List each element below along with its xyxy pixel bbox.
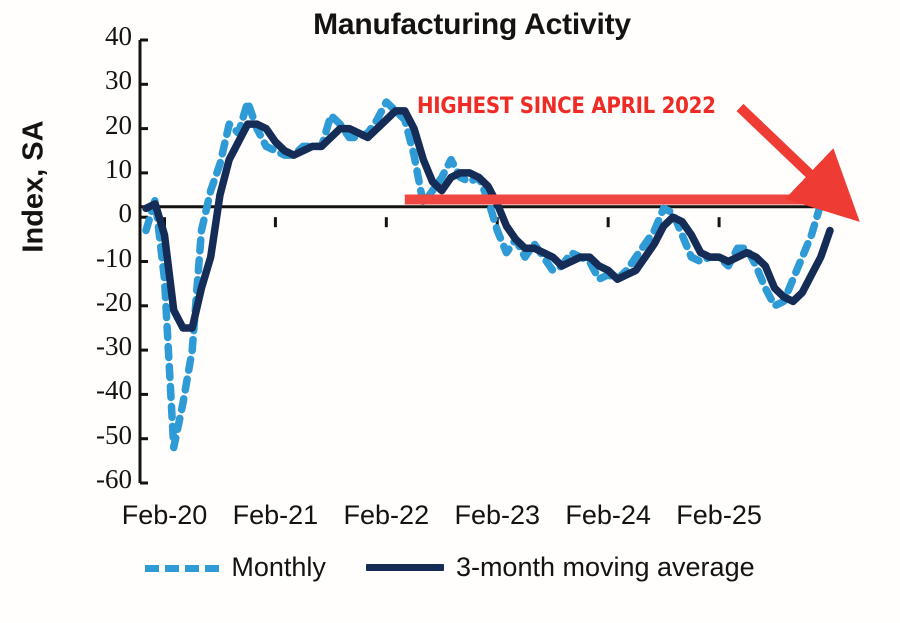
y-axis-tick-label: 10 <box>68 154 132 185</box>
y-axis-tick-label: 0 <box>68 198 132 229</box>
legend-item-monthly[interactable]: Monthly <box>145 552 326 583</box>
series-line-monthly <box>146 102 830 448</box>
y-axis-tick-label: 30 <box>68 65 132 96</box>
annotation-text: HIGHEST SINCE APRIL 2022 <box>417 94 716 119</box>
y-axis-tick-label: 20 <box>68 110 132 141</box>
x-axis-ticks <box>164 217 719 227</box>
series-line-moving-average <box>146 111 830 328</box>
legend-item-moving-average[interactable]: 3-month moving average <box>366 552 755 583</box>
y-axis-tick-label: -30 <box>68 331 132 362</box>
y-axis-tick-label: 40 <box>68 21 132 52</box>
dashed-line-icon <box>145 565 219 572</box>
annotation-arrow <box>740 107 828 191</box>
legend-label-monthly: Monthly <box>231 552 326 583</box>
y-axis-tick-label: -60 <box>68 464 132 495</box>
chart-page: Manufacturing Activity Index, SA 4030201… <box>0 0 900 623</box>
solid-line-icon <box>366 564 444 571</box>
legend-label-moving-average: 3-month moving average <box>456 552 755 583</box>
chart-legend: Monthly 3-month moving average <box>0 552 900 583</box>
x-axis-tick-label: Feb-25 <box>654 500 784 531</box>
y-axis-tick-label: -10 <box>68 243 132 274</box>
y-axis-tick-label: -20 <box>68 287 132 318</box>
y-axis-tick-label: -50 <box>68 420 132 451</box>
y-axis-tick-label: -40 <box>68 375 132 406</box>
